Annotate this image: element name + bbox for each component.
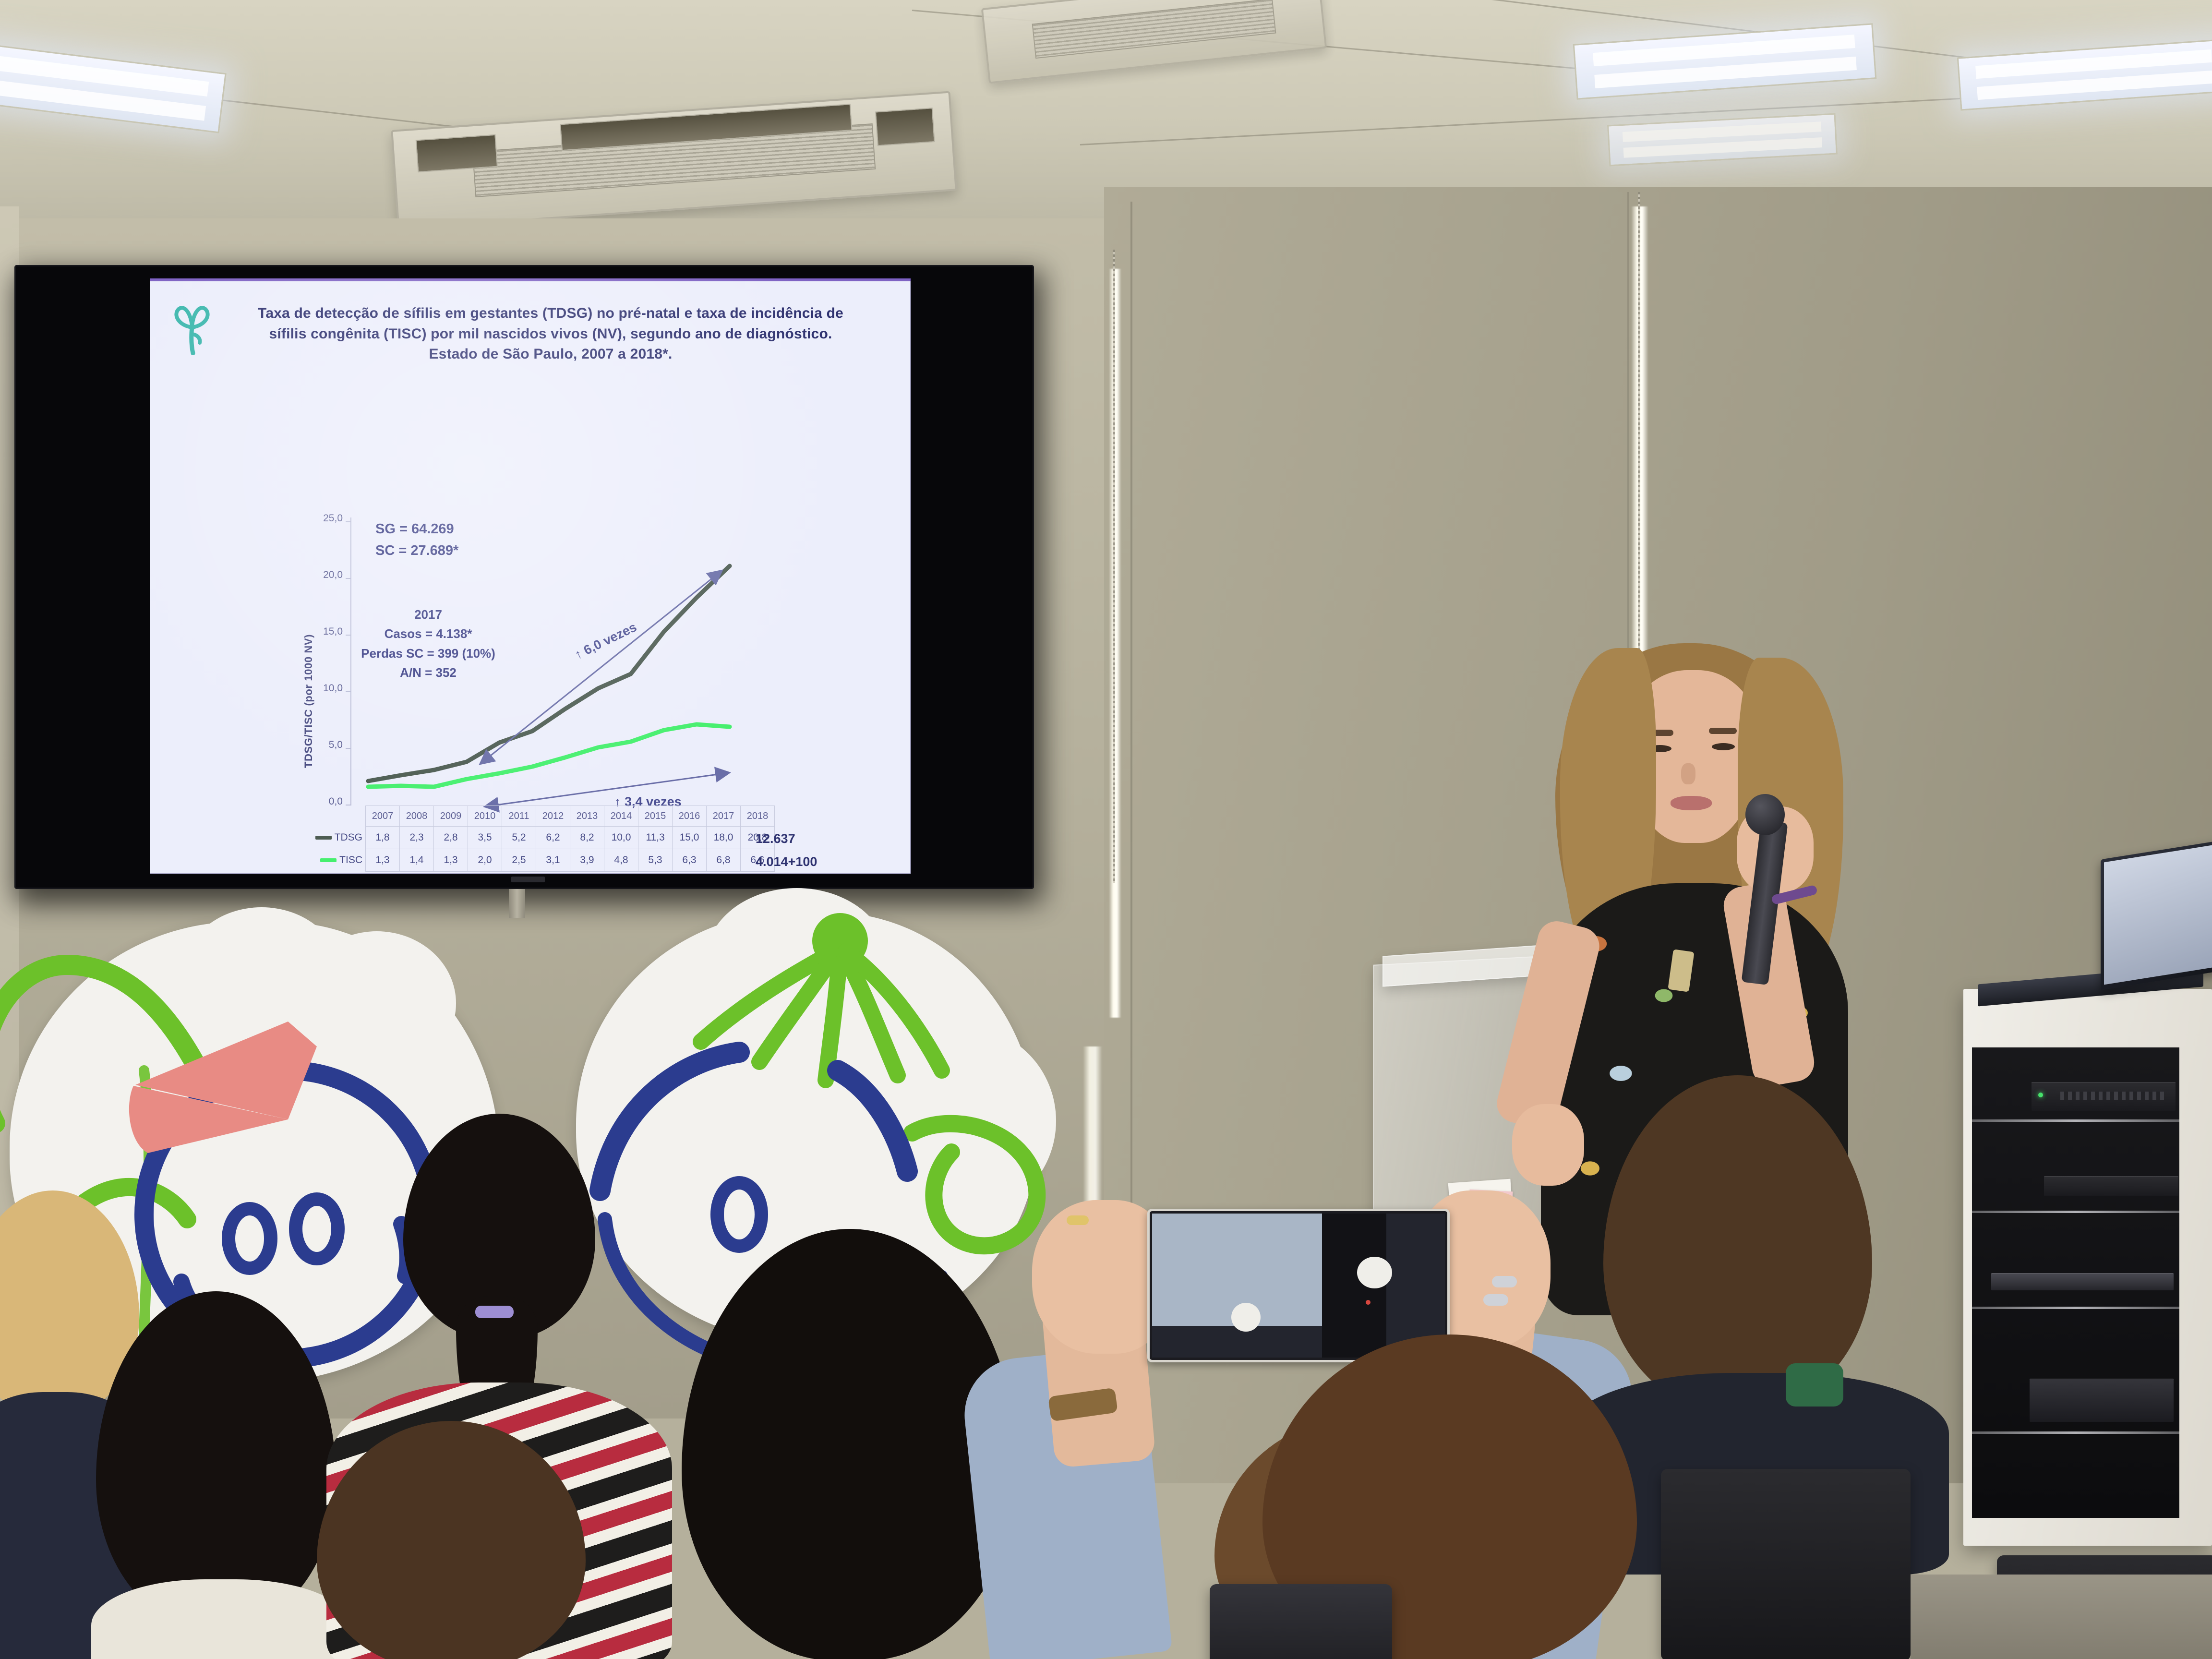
table-header-cell: 2011 xyxy=(502,806,536,827)
preview-highlight xyxy=(1357,1257,1392,1288)
table-cell: 1,3 xyxy=(366,849,400,872)
presenter-left-hand xyxy=(1512,1104,1584,1186)
presenter-eye xyxy=(1712,743,1735,750)
row-total-tisc: 4.014+100 xyxy=(756,854,817,869)
chart-data-table: 2007 2008 2009 2010 2011 2012 2013 2014 … xyxy=(312,805,775,872)
cabinet-cavity xyxy=(1972,1047,2179,1518)
wall-corner-seam xyxy=(1130,202,1132,1354)
growth-arrow-tisc xyxy=(486,773,728,806)
row-total-tdsg: 12.637 xyxy=(756,831,795,846)
preview-highlight xyxy=(1231,1303,1261,1332)
audience-torso xyxy=(91,1579,350,1659)
conference-room-scene: Taxa de detecção de sífilis em gestantes… xyxy=(0,0,2212,1659)
table-header-cell: 2007 xyxy=(366,806,400,827)
audience-collar xyxy=(1786,1363,1843,1407)
cabinet-shelf xyxy=(1972,1431,2179,1434)
audience-chair[interactable] xyxy=(1210,1584,1392,1659)
power-led xyxy=(2038,1093,2043,1097)
floor xyxy=(1911,1575,2212,1659)
table-header-cell: 2008 xyxy=(400,806,434,827)
display-brand-logo xyxy=(511,877,545,882)
hair-tie xyxy=(475,1306,514,1318)
table-row-tisc: TISC 1,3 1,4 1,3 2,0 2,5 3,1 3,9 4,8 5,3… xyxy=(312,849,775,872)
table-cell: 6,8 xyxy=(707,849,741,872)
legend-swatch-tisc xyxy=(320,858,337,862)
table-cell: 3,9 xyxy=(570,849,604,872)
audience-hair xyxy=(96,1291,336,1627)
table-cell: 5,3 xyxy=(638,849,673,872)
table-header-cell: 2013 xyxy=(570,806,604,827)
blind-chain xyxy=(1113,250,1115,883)
series-legend-tisc: TISC xyxy=(312,849,366,872)
table-header-cell: 2014 xyxy=(604,806,638,827)
table-row-years: 2007 2008 2009 2010 2011 2012 2013 2014 … xyxy=(312,806,775,827)
series-line-tisc xyxy=(368,724,730,787)
table-header-cell: 2017 xyxy=(707,806,741,827)
table-cell: 11,3 xyxy=(638,827,673,849)
table-header-cell: 2012 xyxy=(536,806,570,827)
wall-mounted-display: Taxa de detecção de sífilis em gestantes… xyxy=(14,265,1034,889)
table-cell: 2,5 xyxy=(502,849,536,872)
table-cell: 4,8 xyxy=(604,849,638,872)
presentation-laptop[interactable] xyxy=(2101,840,2212,990)
table-header-cell: 2015 xyxy=(638,806,673,827)
series-legend-tdsg: TDSG xyxy=(312,827,366,849)
chart-plot xyxy=(150,278,911,874)
receiver-controls xyxy=(2060,1092,2164,1100)
audience-chair[interactable] xyxy=(1661,1469,1911,1659)
av-amplifier[interactable] xyxy=(1991,1273,2174,1290)
microphone-head xyxy=(1745,794,1785,835)
table-header-cell: 2016 xyxy=(673,806,707,827)
ac-grille xyxy=(1032,0,1276,59)
av-equipment-cabinet xyxy=(1963,989,2212,1546)
table-cell: 6,3 xyxy=(673,849,707,872)
table-cell: 1,8 xyxy=(366,827,400,849)
table-cell: 15,0 xyxy=(673,827,707,849)
table-cell: 2,0 xyxy=(468,849,502,872)
audience-member xyxy=(317,1421,605,1659)
table-row-tdsg: TDSG 1,8 2,3 2,8 3,5 5,2 6,2 8,2 10,0 11… xyxy=(312,827,775,849)
table-cell: 1,3 xyxy=(434,849,468,872)
presentation-slide: Taxa de detecção de sífilis em gestantes… xyxy=(150,278,911,874)
legend-swatch-tdsg xyxy=(315,836,332,840)
ac-vent-slot xyxy=(875,108,935,146)
table-cell: 1,4 xyxy=(400,849,434,872)
table-cell: 10,0 xyxy=(604,827,638,849)
av-switcher[interactable] xyxy=(2030,1379,2174,1422)
ring xyxy=(1067,1215,1089,1225)
ac-vent-slot xyxy=(416,134,498,172)
table-header-cell: 2018 xyxy=(741,806,775,827)
chart-area: TDSG/TISC (por 1000 NV) 0,0 5,0 10,0 15,… xyxy=(150,278,911,874)
table-cell: 2,3 xyxy=(400,827,434,849)
table-cell: 3,5 xyxy=(468,827,502,849)
ring xyxy=(1492,1276,1517,1287)
audience-member xyxy=(96,1291,346,1659)
cabinet-shelf xyxy=(1972,1307,2179,1309)
table-cell: 5,2 xyxy=(502,827,536,849)
audience-hair xyxy=(317,1421,586,1659)
presenter-mouth xyxy=(1671,796,1712,810)
table-header-cell: 2010 xyxy=(468,806,502,827)
presenter-eyebrow xyxy=(1709,728,1737,734)
cabinet-shelf xyxy=(1972,1211,2179,1213)
series-name-tdsg: TDSG xyxy=(335,832,362,843)
table-cell: 18,0 xyxy=(707,827,741,849)
av-player[interactable] xyxy=(2044,1176,2178,1196)
ring xyxy=(1483,1294,1508,1306)
growth-arrow-tdsg xyxy=(481,571,721,763)
table-cell: 8,2 xyxy=(570,827,604,849)
table-cell: 6,2 xyxy=(536,827,570,849)
series-name-tisc: TISC xyxy=(339,854,362,866)
table-header-cell: 2009 xyxy=(434,806,468,827)
av-receiver[interactable] xyxy=(2032,1082,2176,1111)
series-line-tdsg xyxy=(368,566,730,781)
table-cell: 2,8 xyxy=(434,827,468,849)
cabinet-shelf xyxy=(1972,1119,2179,1122)
table-cell: 3,1 xyxy=(536,849,570,872)
window-light-strip xyxy=(1109,269,1121,1018)
laptop-screen xyxy=(2104,844,2212,985)
presenter-nose xyxy=(1681,763,1695,784)
